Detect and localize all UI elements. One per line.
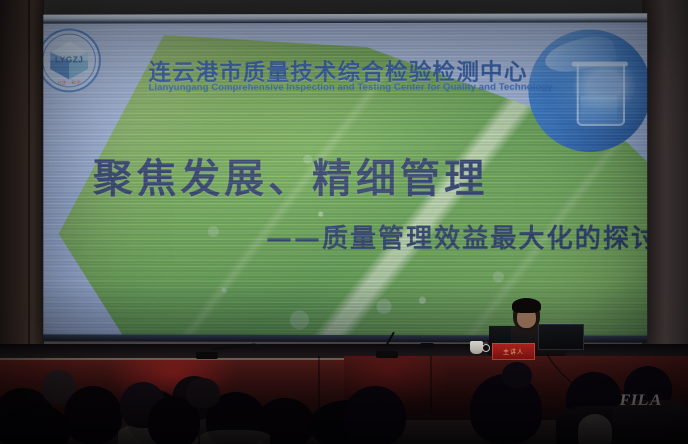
audience-head [64, 386, 122, 444]
left-column-panel [0, 0, 44, 372]
nameplate-text: 主讲人 [493, 347, 534, 356]
audience-head [344, 386, 406, 444]
audience-hair-bun [502, 362, 532, 388]
microphone-base [376, 351, 398, 358]
microphone-base [420, 343, 434, 348]
nameplate: 主讲人 [492, 343, 535, 360]
screen-vignette [43, 13, 647, 342]
photograph-conference-presentation: LYGZJ 公正 · 科学 连云港市质量技术综合检验检测中心 Lianyunga… [0, 0, 688, 444]
led-presentation-screen: LYGZJ 公正 · 科学 连云港市质量技术综合检验检测中心 Lianyunga… [43, 13, 647, 342]
laptop-icon [538, 324, 584, 350]
screen-top-bezel [43, 13, 647, 23]
audience-coat [200, 430, 270, 444]
microphone-base [196, 352, 218, 359]
audience-head [186, 378, 220, 408]
right-wall-panel [642, 0, 688, 372]
fila-logo-text: FILA [618, 392, 663, 410]
microphone-head [254, 344, 261, 350]
presenter-hair [512, 298, 541, 313]
panel-seam [28, 0, 30, 372]
audience-collar [578, 414, 612, 444]
teacup-handle [482, 344, 490, 352]
table-panel-seam-2 [430, 356, 432, 414]
